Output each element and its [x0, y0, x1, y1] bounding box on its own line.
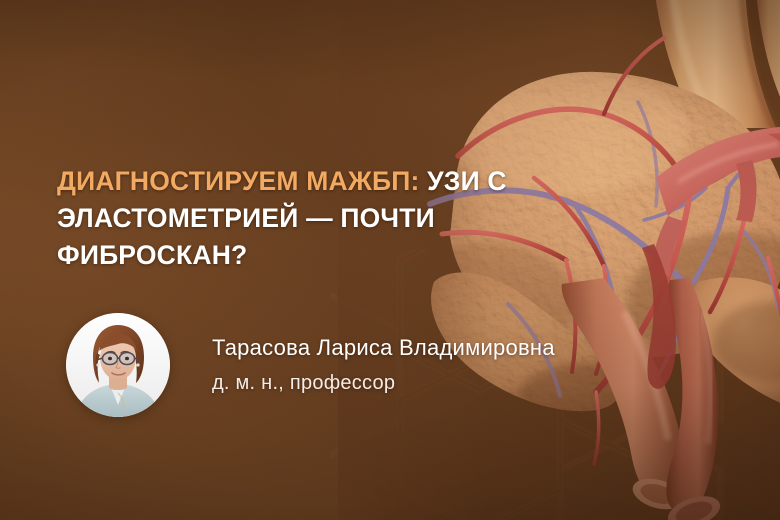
- webinar-title-slide: ДИАГНОСТИРУЕМ МАЖБП: УЗИ СЭЛАСТОМЕТРИЕЙ …: [0, 0, 780, 520]
- presenter-block: Тарасова Лариса Владимировна д. м. н., п…: [66, 313, 555, 417]
- presenter-name: Тарасова Лариса Владимировна: [212, 337, 555, 359]
- page-title: ДИАГНОСТИРУЕМ МАЖБП: УЗИ СЭЛАСТОМЕТРИЕЙ …: [57, 163, 527, 274]
- avatar: [66, 313, 170, 417]
- presenter-role: д. м. н., профессор: [212, 373, 555, 393]
- title-line2: ЭЛАСТОМЕТРИЕЙ — ПОЧТИ: [57, 203, 435, 233]
- title-line1-rest: УЗИ С: [420, 166, 507, 196]
- title-line1-highlight: ДИАГНОСТИРУЕМ МАЖБП:: [57, 166, 420, 196]
- avatar-portrait-photo: [66, 313, 170, 417]
- presenter-text: Тарасова Лариса Владимировна д. м. н., п…: [212, 337, 555, 393]
- title-line3: ФИБРОСКАН?: [57, 240, 247, 270]
